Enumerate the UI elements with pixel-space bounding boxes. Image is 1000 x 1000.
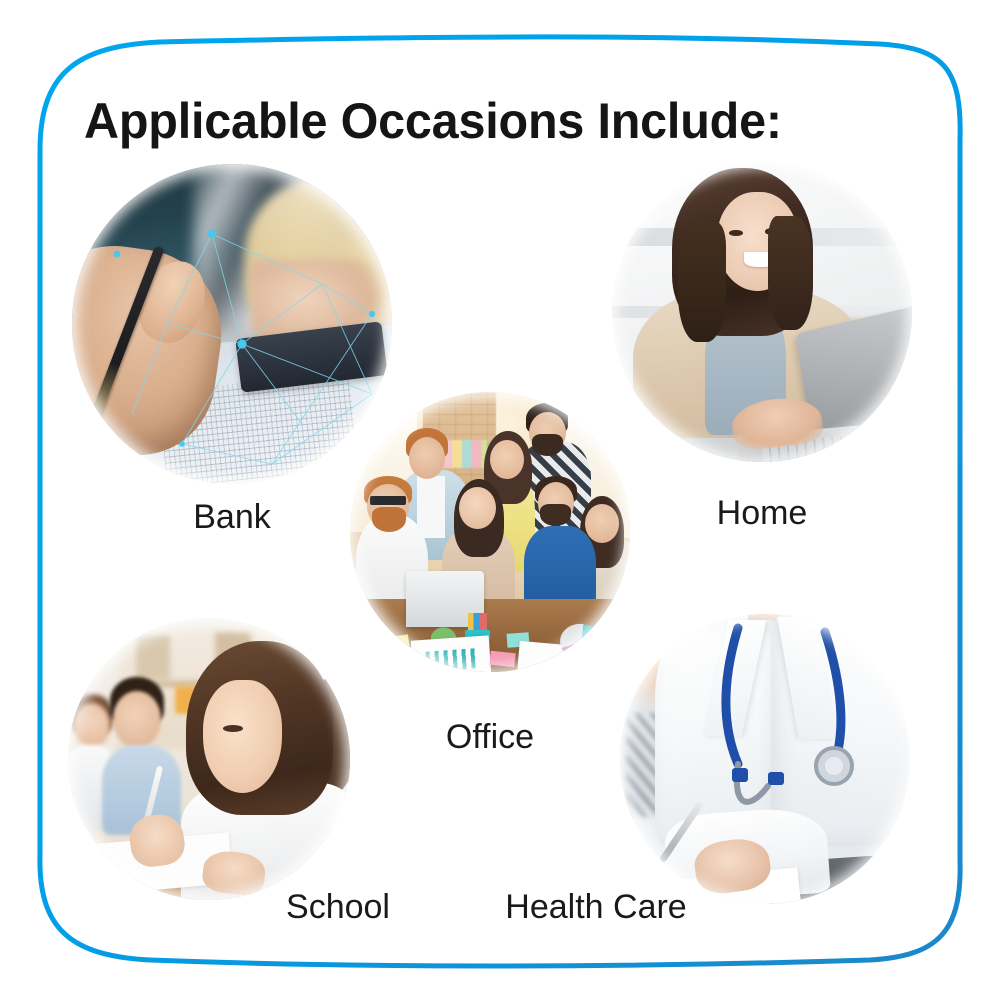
office-photo — [350, 392, 630, 672]
occasion-label-bank: Bank — [132, 498, 332, 537]
occasion-image-school — [68, 618, 350, 900]
poster-canvas: Applicable Occasions Include: — [0, 0, 1000, 1000]
health-care-photo — [620, 614, 910, 904]
bank-photo — [72, 164, 392, 484]
occasion-image-bank — [72, 164, 392, 484]
home-photo — [612, 162, 912, 462]
occasion-image-health-care — [620, 614, 910, 904]
page-title: Applicable Occasions Include: — [84, 92, 782, 150]
occasion-image-office — [350, 392, 630, 672]
data-network-overlay — [72, 164, 392, 484]
occasion-label-health-care: Health Care — [496, 888, 696, 927]
occasion-label-school: School — [238, 888, 438, 927]
occasion-image-home — [612, 162, 912, 462]
school-photo — [68, 618, 350, 900]
occasion-label-home: Home — [662, 494, 862, 533]
occasion-label-office: Office — [390, 718, 590, 757]
